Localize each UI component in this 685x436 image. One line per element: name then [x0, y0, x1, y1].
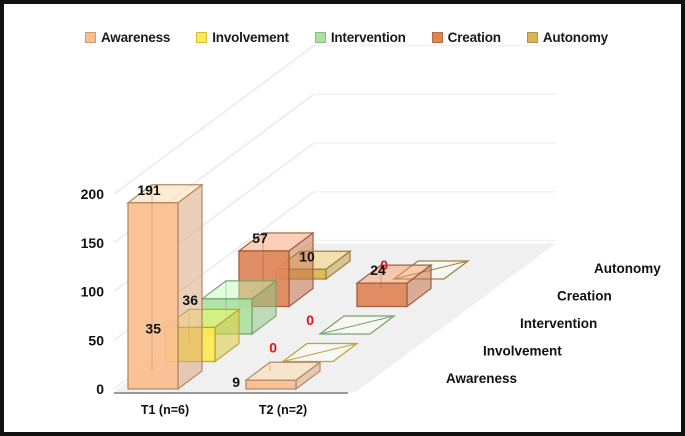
bar-value-label: 0: [269, 340, 277, 356]
depth-axis-label-awareness: Awareness: [446, 371, 517, 386]
bar-value-label: 36: [182, 292, 198, 308]
bar-value-label: 35: [145, 320, 161, 336]
figure-frame: AwarenessInvolvementInterventionCreation…: [0, 0, 685, 436]
depth-axis-label-creation: Creation: [557, 289, 612, 304]
bar-value-label: 57: [252, 230, 268, 246]
bar-value-label: 24: [370, 262, 386, 278]
y-axis-tick-label: 0: [96, 381, 104, 397]
depth-axis-label-autonomy: Autonomy: [594, 261, 661, 276]
y-axis-tick-label: 100: [81, 284, 105, 300]
depth-axis-label-intervention: Intervention: [520, 316, 597, 331]
x-axis-label-t2: T2 (n=2): [259, 403, 307, 417]
x-axis-labels: T1 (n=6)T2 (n=2): [141, 403, 307, 417]
y-axis-ticks: 050100150200: [81, 186, 105, 397]
y-axis-tick-label: 50: [88, 332, 104, 348]
y-axis-tick-label: 200: [81, 186, 105, 202]
bar-chart-3d: 050100150200 01024570360359191 Awareness…: [4, 4, 685, 436]
bar-awareness-t1: [128, 185, 202, 389]
bar-value-label: 9: [232, 374, 240, 390]
y-axis-tick-label: 150: [81, 235, 105, 251]
x-axis-label-t1: T1 (n=6): [141, 403, 189, 417]
bar-value-label: 10: [299, 248, 315, 264]
depth-axis-label-involvement: Involvement: [483, 344, 562, 359]
bar-value-label: 191: [137, 182, 161, 198]
bar-value-label: 0: [306, 312, 314, 328]
